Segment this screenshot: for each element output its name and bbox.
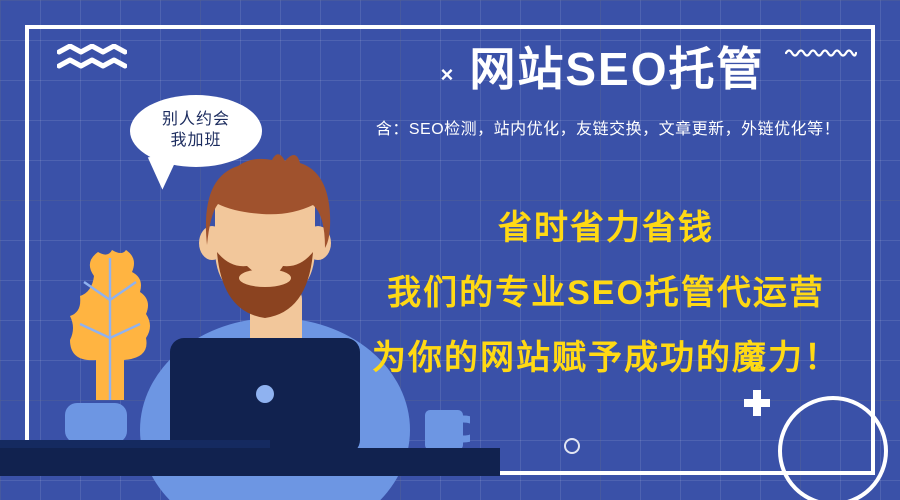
- headline-line-3: 为你的网站赋予成功的魔力！: [330, 330, 882, 379]
- speech-bubble: 别人约会 我加班: [130, 95, 262, 167]
- speech-bubble-line-1: 别人约会: [162, 110, 230, 131]
- laptop-logo-dot: [256, 385, 274, 403]
- subtitle: 含：SEO检测，站内优化，友链交换，文章更新，外链优化等！: [330, 115, 886, 139]
- headline-line-1: 省时省力省钱: [330, 200, 882, 249]
- speech-bubble-line-2: 我加班: [170, 131, 221, 152]
- headline-line-2: 我们的专业SEO托管代运营: [330, 265, 882, 314]
- title-row: × 网站SEO托管: [330, 44, 875, 95]
- seo-promo-banner: 别人约会 我加班 × 网站SEO托管 含：SEO检测，站内优化，友链交换，文章更…: [0, 0, 900, 500]
- content-column: × 网站SEO托管 含：SEO检测，站内优化，友链交换，文章更新，外链优化等！ …: [330, 0, 890, 500]
- x-mark-icon: ×: [440, 52, 453, 86]
- plant-pot: [65, 403, 127, 443]
- page-title: 网站SEO托管: [469, 44, 764, 95]
- mouth-shape: [239, 269, 291, 287]
